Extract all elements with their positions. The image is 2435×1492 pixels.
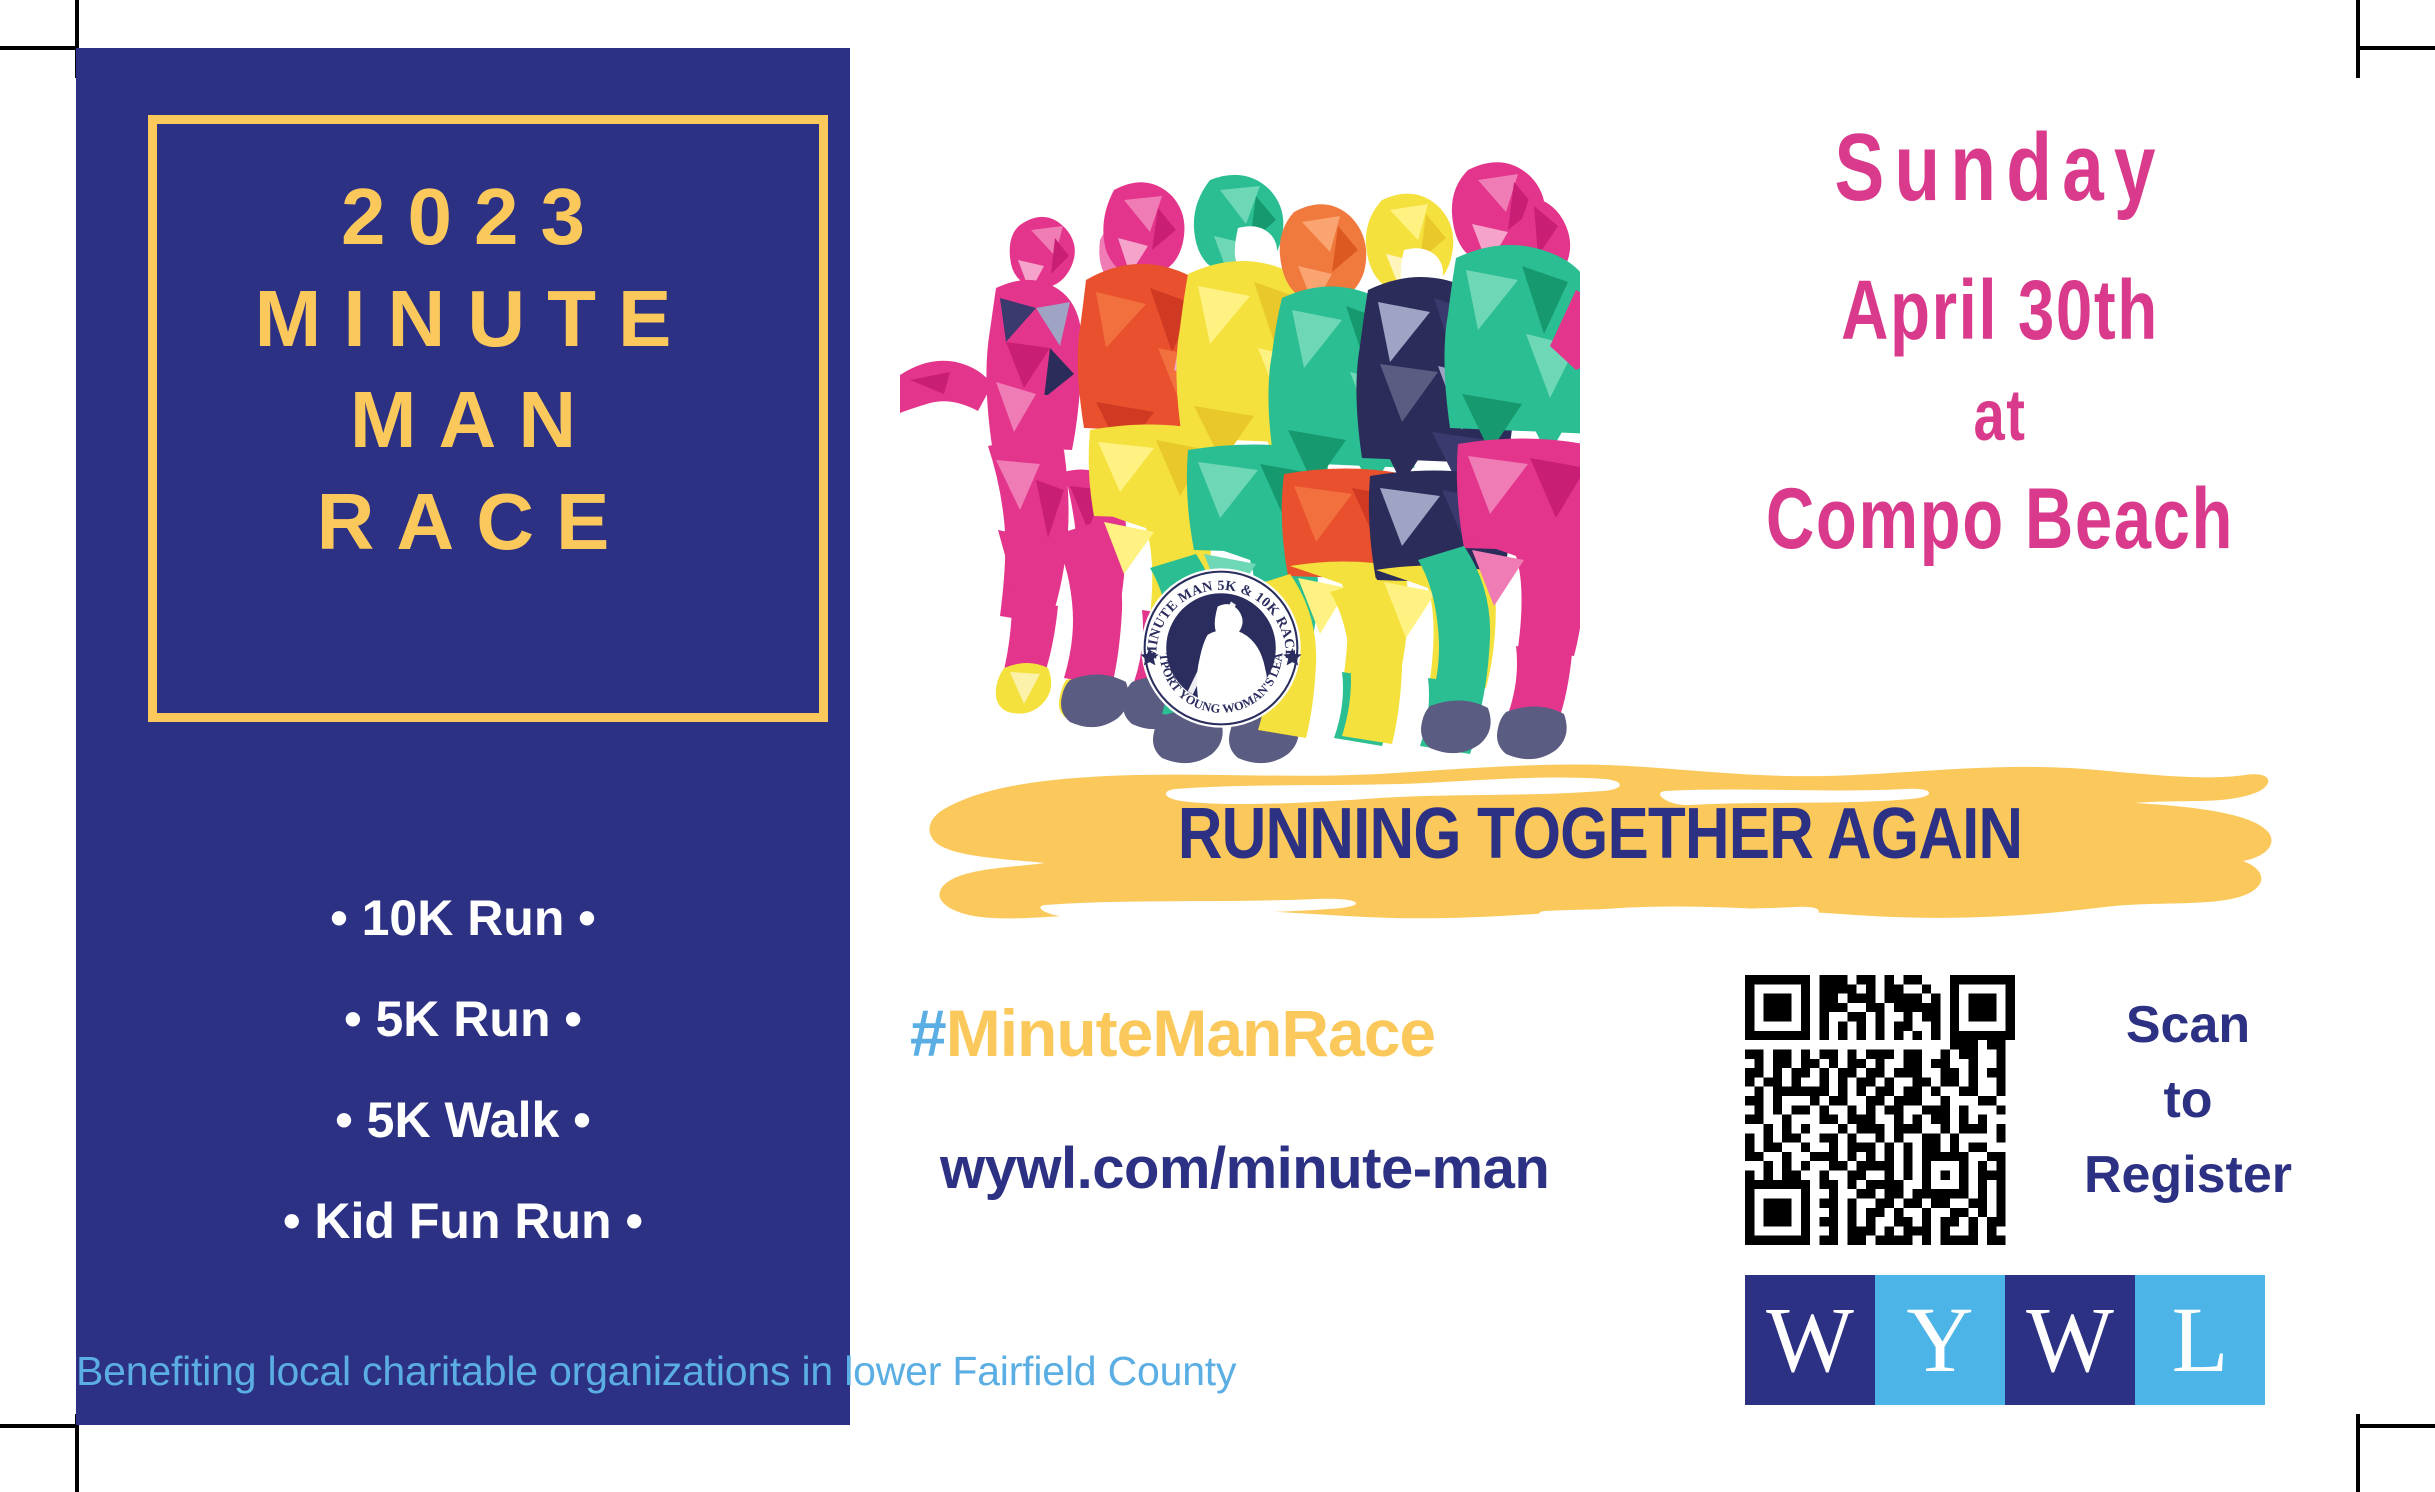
event-at: at xyxy=(1688,380,2312,452)
hashtag-word: MinuteManRace xyxy=(946,996,1435,1070)
title-line-man: MAN xyxy=(76,369,850,471)
title-line-minute: MINUTE xyxy=(76,268,850,370)
event-date-block: Sunday April 30th at Compo Beach xyxy=(1600,120,2400,562)
poster-title: 2023 MINUTE MAN RACE xyxy=(76,166,850,572)
title-line-year: 2023 xyxy=(76,166,850,268)
minuteman-race-seal-logo: MINUTE MAN 5K & 10K RACE WESTPORT YOUNG … xyxy=(1138,565,1304,731)
qr-code[interactable] xyxy=(1745,975,2015,1245)
scan-line-1: Scan xyxy=(2028,988,2348,1063)
event-date: April 30th xyxy=(1688,268,2312,352)
list-item: • Kid Fun Run • xyxy=(76,1196,850,1246)
wywl-logo: W Y W L xyxy=(1745,1275,2265,1405)
scan-line-3: Register xyxy=(2028,1138,2348,1213)
list-item: • 5K Run • xyxy=(76,994,850,1044)
navy-panel: 2023 MINUTE MAN RACE • 10K Run • • 5K Ru… xyxy=(76,48,850,1425)
wywl-tile-y: Y xyxy=(1875,1275,2005,1405)
wywl-tile-w2: W xyxy=(2005,1275,2135,1405)
event-day: Sunday xyxy=(1688,120,2312,216)
crop-mark-top-right-horizontal xyxy=(2357,46,2435,50)
crop-mark-bottom-left-horizontal xyxy=(0,1424,78,1428)
scan-to-register-text: Scan to Register xyxy=(2028,988,2348,1213)
hash-symbol: # xyxy=(910,996,946,1070)
list-item: • 5K Walk • xyxy=(76,1095,850,1145)
list-item: • 10K Run • xyxy=(76,893,850,943)
event-list: • 10K Run • • 5K Run • • 5K Walk • • Kid… xyxy=(76,893,850,1297)
hashtag: #MinuteManRace xyxy=(910,995,1435,1071)
website-url[interactable]: wywl.com/minute-man xyxy=(940,1135,1549,1202)
scan-line-2: to xyxy=(2028,1063,2348,1138)
wywl-tile-l: L xyxy=(2135,1275,2265,1405)
tagline-text: RUNNING TOGETHER AGAIN xyxy=(1020,793,2181,875)
tagline-banner: RUNNING TOGETHER AGAIN xyxy=(925,745,2275,940)
title-line-race: RACE xyxy=(76,471,850,573)
crop-mark-bottom-right-horizontal xyxy=(2357,1424,2435,1428)
crop-mark-top-left-horizontal xyxy=(0,46,78,50)
crop-mark-top-right-vertical xyxy=(2356,0,2360,78)
benefit-text: Benefiting local charitable organization… xyxy=(76,1348,1496,1395)
event-place: Compo Beach xyxy=(1688,476,2312,562)
wywl-tile-w1: W xyxy=(1745,1275,1875,1405)
